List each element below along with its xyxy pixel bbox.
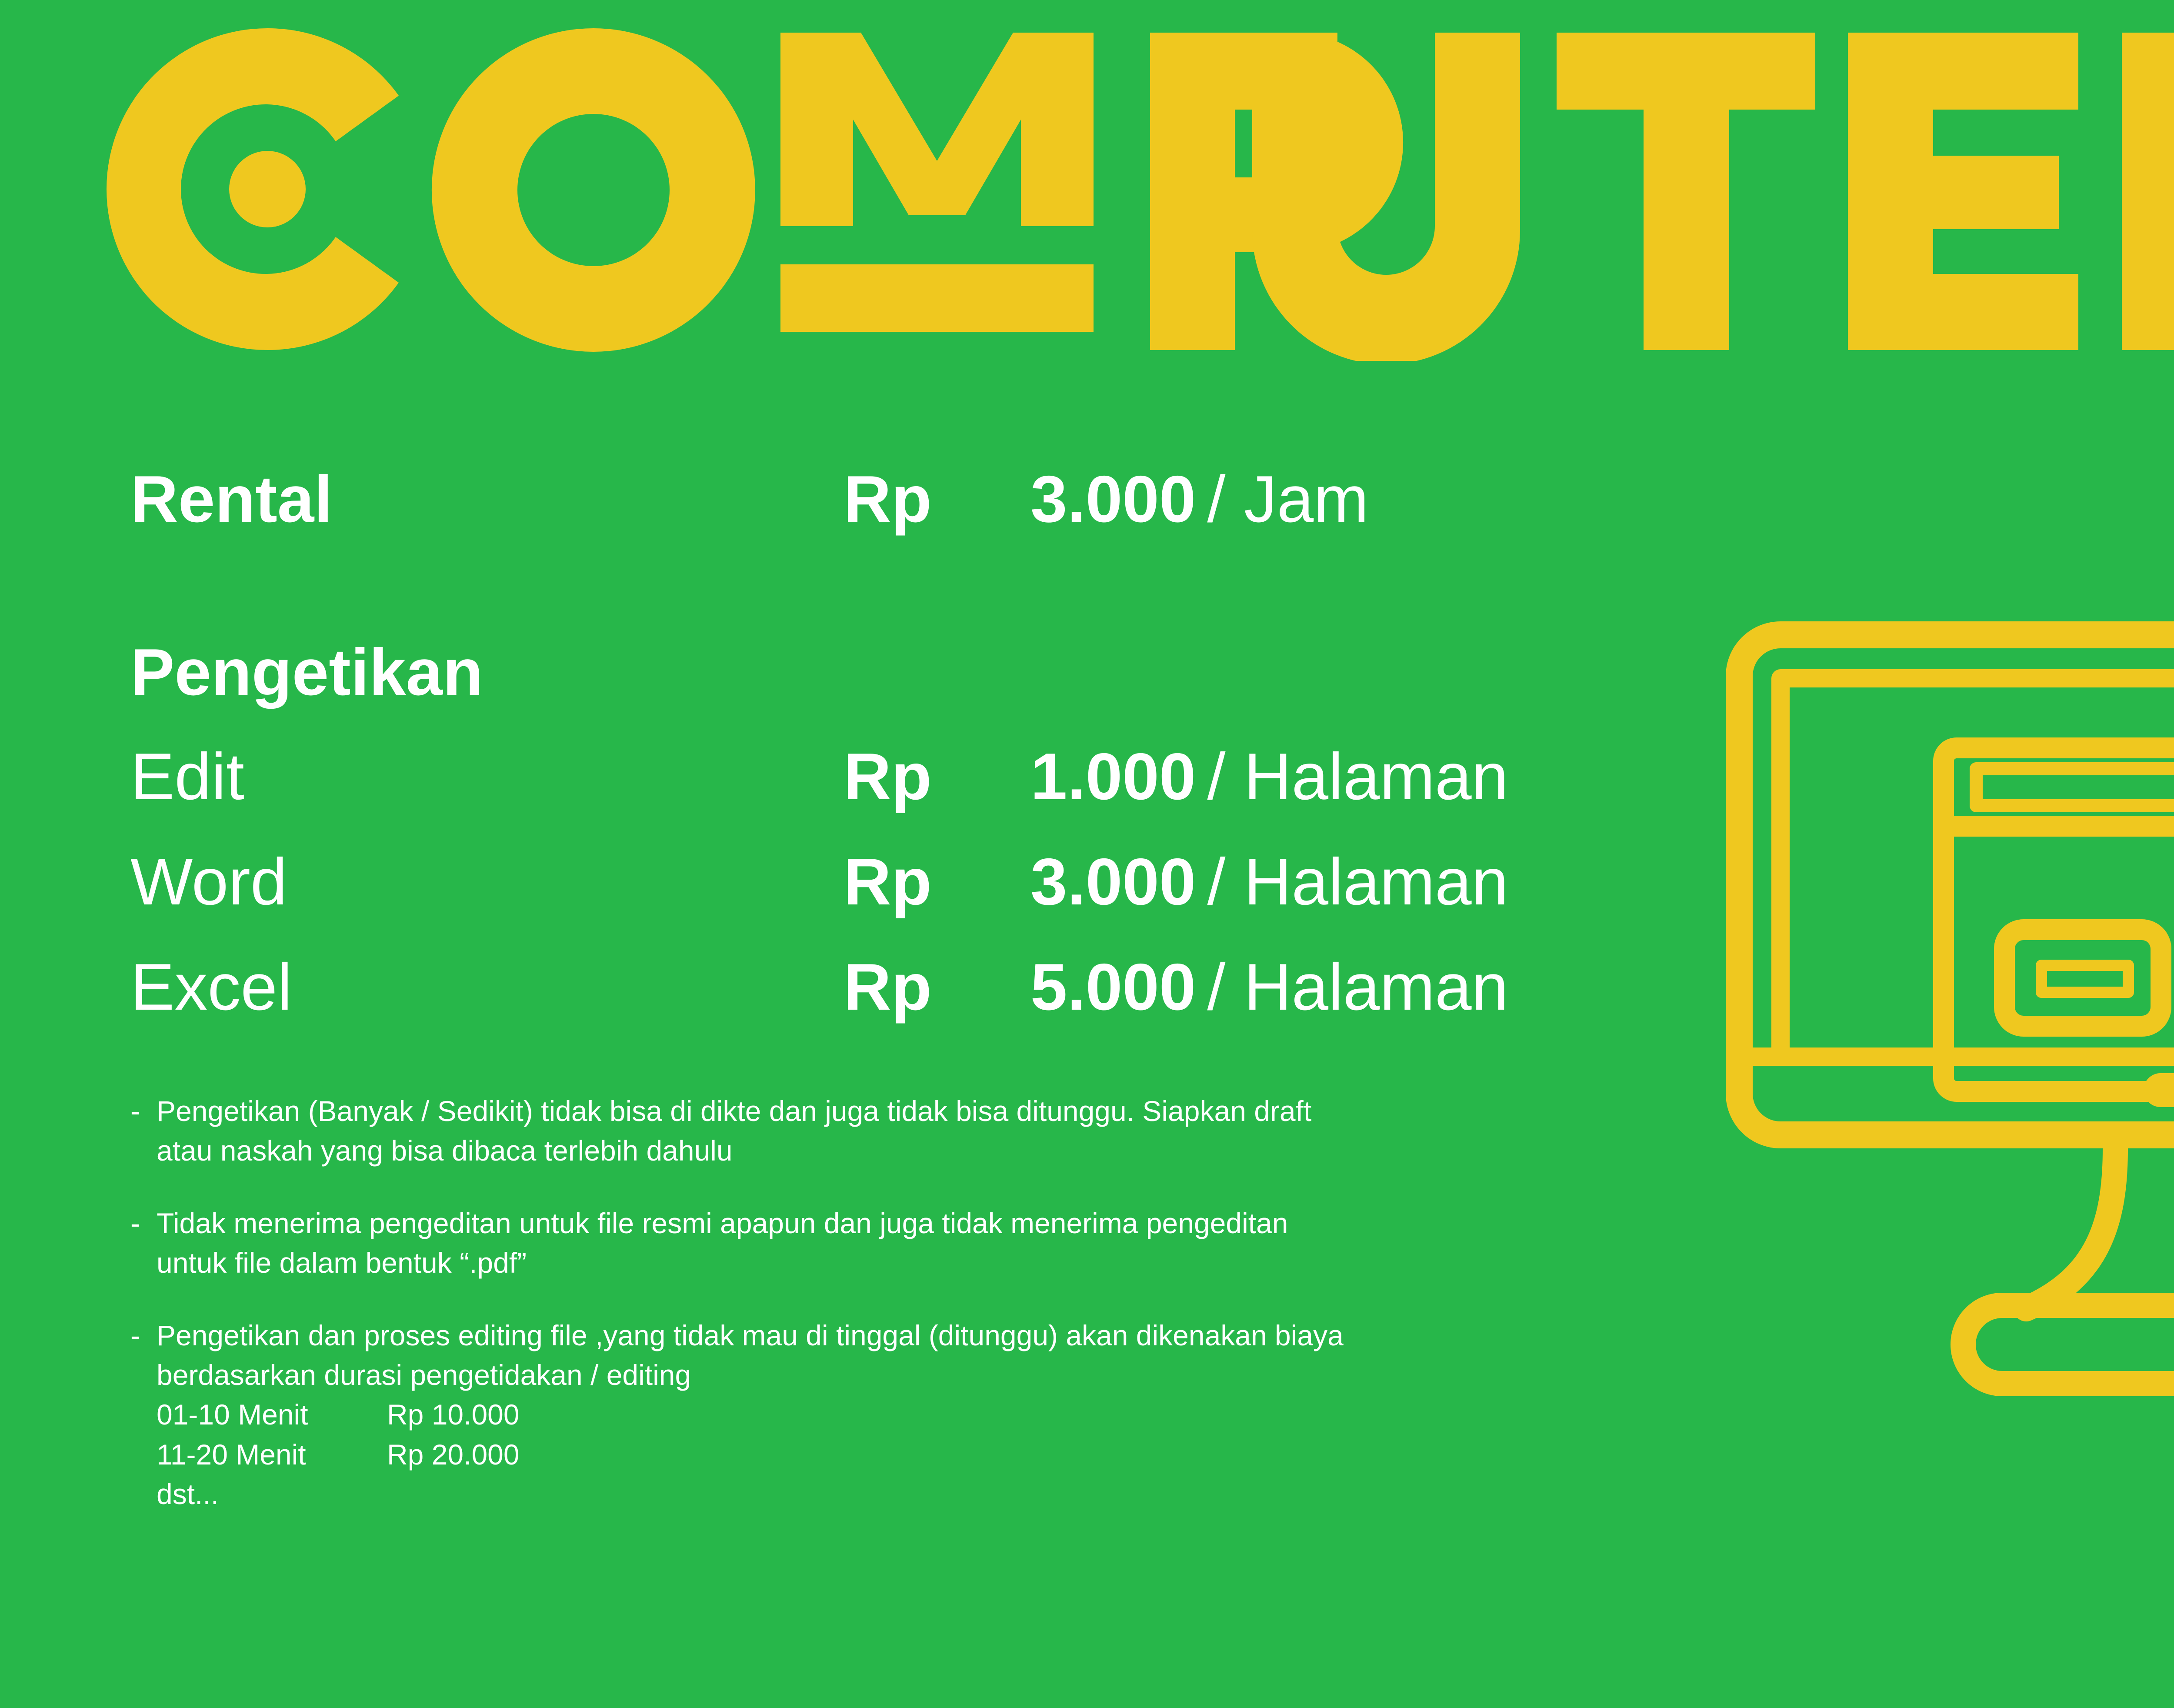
price-amount: 5.000 bbox=[1030, 954, 1196, 1020]
note-line: atau naskah yang bisa dibaca terlebih da… bbox=[157, 1131, 1848, 1171]
service-name: Word bbox=[130, 849, 844, 915]
bullet-dash-icon: - bbox=[130, 1316, 157, 1514]
browser-titlebar bbox=[1976, 769, 2174, 806]
service-name: Excel bbox=[130, 954, 844, 1020]
duration-continuation: dst... bbox=[157, 1474, 1848, 1514]
price-table-pengetikan: Edit Rp 1.000 / Halaman Word Rp 3.000 / … bbox=[130, 744, 1508, 1020]
table-row: 01-10 Menit Rp 10.000 bbox=[157, 1395, 1848, 1434]
price-amount: 1.000 bbox=[1030, 744, 1196, 810]
currency-label: Rp bbox=[844, 744, 1030, 810]
table-row: Word Rp 3.000 / Halaman bbox=[130, 849, 1508, 915]
logo-letter-c bbox=[107, 28, 399, 350]
note-text: Pengetikan dan proses editing file ,yang… bbox=[157, 1316, 1848, 1514]
service-name: Rental bbox=[130, 466, 844, 532]
bullet-dash-icon: - bbox=[130, 1091, 157, 1171]
duration-price: Rp 20.000 bbox=[387, 1435, 520, 1474]
bullet-dash-icon: - bbox=[130, 1204, 157, 1283]
notes-list: - Pengetikan (Banyak / Sedikit) tidak bi… bbox=[130, 1091, 1848, 1514]
note-line: Tidak menerima pengeditan untuk file res… bbox=[157, 1204, 1848, 1243]
price-row-rental: Rental Rp 3.000 / Jam bbox=[130, 466, 1369, 532]
monitor-base bbox=[1963, 1305, 2174, 1384]
currency-label: Rp bbox=[844, 466, 1030, 532]
duration-price: Rp 10.000 bbox=[387, 1395, 520, 1434]
note-text: Pengetikan (Banyak / Sedikit) tidak bisa… bbox=[157, 1091, 1848, 1171]
duration-price-table: 01-10 Menit Rp 10.000 11-20 Menit Rp 20.… bbox=[157, 1395, 1848, 1514]
currency-label: Rp bbox=[844, 849, 1030, 915]
price-unit: / Halaman bbox=[1207, 849, 1508, 915]
logo-letter-m bbox=[780, 33, 1094, 332]
logo-letter-r bbox=[2122, 33, 2174, 350]
window-button bbox=[2004, 930, 2161, 1026]
list-item: - Pengetikan (Banyak / Sedikit) tidak bi… bbox=[130, 1091, 1848, 1171]
price-unit: / Jam bbox=[1207, 466, 1369, 532]
poster-canvas: Rental Rp 3.000 / Jam Pengetikan Edit Rp… bbox=[0, 0, 2174, 1708]
table-row: Rental Rp 3.000 / Jam bbox=[130, 466, 1369, 532]
note-text: Tidak menerima pengeditan untuk file res… bbox=[157, 1204, 1848, 1283]
duration-label: 11-20 Menit bbox=[157, 1435, 387, 1474]
note-line: Pengetikan (Banyak / Sedikit) tidak bisa… bbox=[157, 1091, 1848, 1131]
logo-letter-o bbox=[432, 28, 755, 352]
monitor-screen bbox=[1781, 678, 2174, 1057]
table-row: Excel Rp 5.000 / Halaman bbox=[130, 954, 1508, 1020]
service-name: Edit bbox=[130, 744, 844, 810]
price-amount: 3.000 bbox=[1030, 466, 1196, 532]
list-item: - Tidak menerima pengeditan untuk file r… bbox=[130, 1204, 1848, 1283]
logo-letter-e bbox=[1848, 33, 2078, 350]
note-line: berdasarkan durasi pengetidakan / editin… bbox=[157, 1355, 1848, 1395]
duration-label: 01-10 Menit bbox=[157, 1395, 387, 1434]
list-item: - Pengetikan dan proses editing file ,ya… bbox=[130, 1316, 1848, 1514]
table-row: Edit Rp 1.000 / Halaman bbox=[130, 744, 1508, 810]
monitor-illustration bbox=[1722, 617, 2174, 1591]
currency-label: Rp bbox=[844, 954, 1030, 1020]
section-heading-pengetikan: Pengetikan bbox=[130, 639, 483, 705]
price-unit: / Halaman bbox=[1207, 744, 1508, 810]
note-line: Pengetikan dan proses editing file ,yang… bbox=[157, 1316, 1848, 1355]
monitor-stand-neck bbox=[2026, 1149, 2174, 1309]
monitor-power-led bbox=[2152, 1082, 2174, 1098]
price-unit: / Halaman bbox=[1207, 954, 1508, 1020]
price-amount: 3.000 bbox=[1030, 849, 1196, 915]
note-line: untuk file dalam bentuk “.pdf” bbox=[157, 1243, 1848, 1283]
page-title-logo bbox=[83, 17, 2174, 361]
table-row: 11-20 Menit Rp 20.000 bbox=[157, 1435, 1848, 1474]
logo-letter-t bbox=[1557, 33, 1815, 350]
window-button-dash bbox=[2041, 965, 2128, 992]
